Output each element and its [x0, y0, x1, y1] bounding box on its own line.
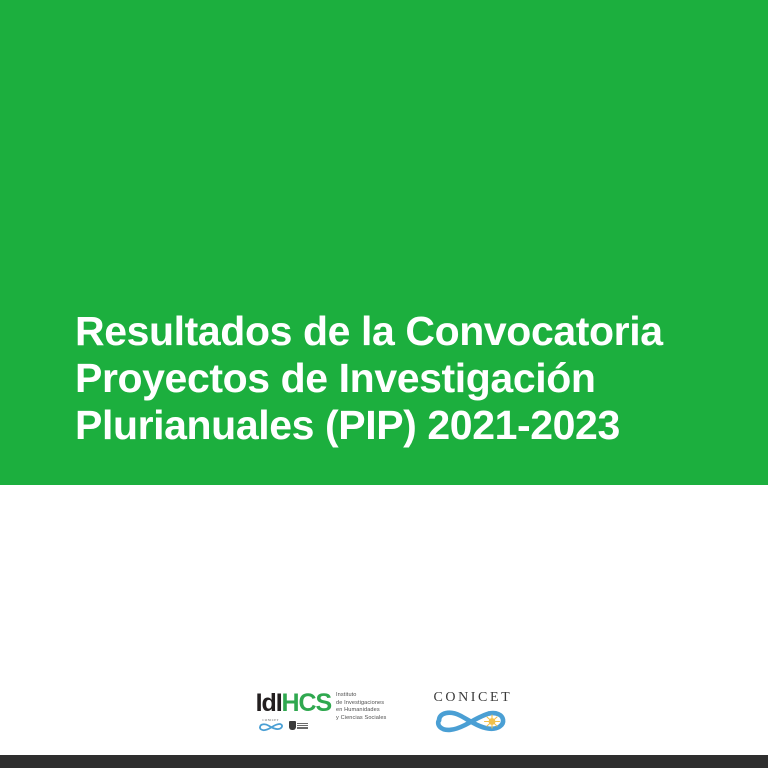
idihcs-description-line-4: y Ciencias Sociales	[336, 715, 386, 722]
unlp-mini-text-line	[297, 723, 308, 724]
conicet-sun-icon	[485, 715, 500, 728]
page-title-line-1: Resultados de la Convocatoria	[75, 308, 685, 355]
unlp-mini-text-line	[297, 725, 308, 726]
slide-canvas: Resultados de la Convocatoria Proyectos …	[0, 0, 768, 768]
page-title: Resultados de la Convocatoria Proyectos …	[75, 308, 685, 449]
unlp-shield-icon	[289, 721, 296, 730]
conicet-wordmark: CONICET	[430, 690, 512, 705]
idihcs-sub-logos: CONICET	[256, 719, 309, 732]
page-title-line-3: Plurianuales (PIP) 2021-2023	[75, 402, 685, 449]
page-title-line-2: Proyectos de Investigación	[75, 355, 685, 402]
idihcs-description-line-2: de Investigaciones	[336, 700, 386, 707]
unlp-mini-text-line	[297, 727, 308, 728]
idihcs-wordmark: IdIHCS	[256, 690, 331, 716]
idihcs-wordmark-green: HCS	[282, 689, 331, 717]
unlp-mini-logo	[289, 721, 309, 730]
conicet-logo: CONICET	[430, 690, 512, 736]
idihcs-logo: IdIHCS CONICET	[256, 690, 387, 736]
idihcs-description-line-1: Instituto	[336, 692, 386, 699]
hero-band: Resultados de la Convocatoria Proyectos …	[0, 0, 768, 485]
unlp-mini-text	[297, 723, 308, 729]
idihcs-wordmark-block: IdIHCS CONICET	[256, 690, 331, 732]
bottom-bar	[0, 755, 768, 768]
conicet-mini-infinity-icon	[258, 722, 284, 732]
idihcs-wordmark-dark: IdI	[256, 689, 282, 717]
idihcs-description: Instituto de Investigaciones en Humanida…	[336, 690, 386, 721]
conicet-mini-logo: CONICET	[258, 719, 284, 732]
idihcs-description-line-3: en Humanidades	[336, 707, 386, 714]
conicet-infinity-icon	[434, 707, 508, 735]
content-area: IdIHCS CONICET	[0, 485, 768, 755]
logo-strip: IdIHCS CONICET	[0, 685, 768, 741]
